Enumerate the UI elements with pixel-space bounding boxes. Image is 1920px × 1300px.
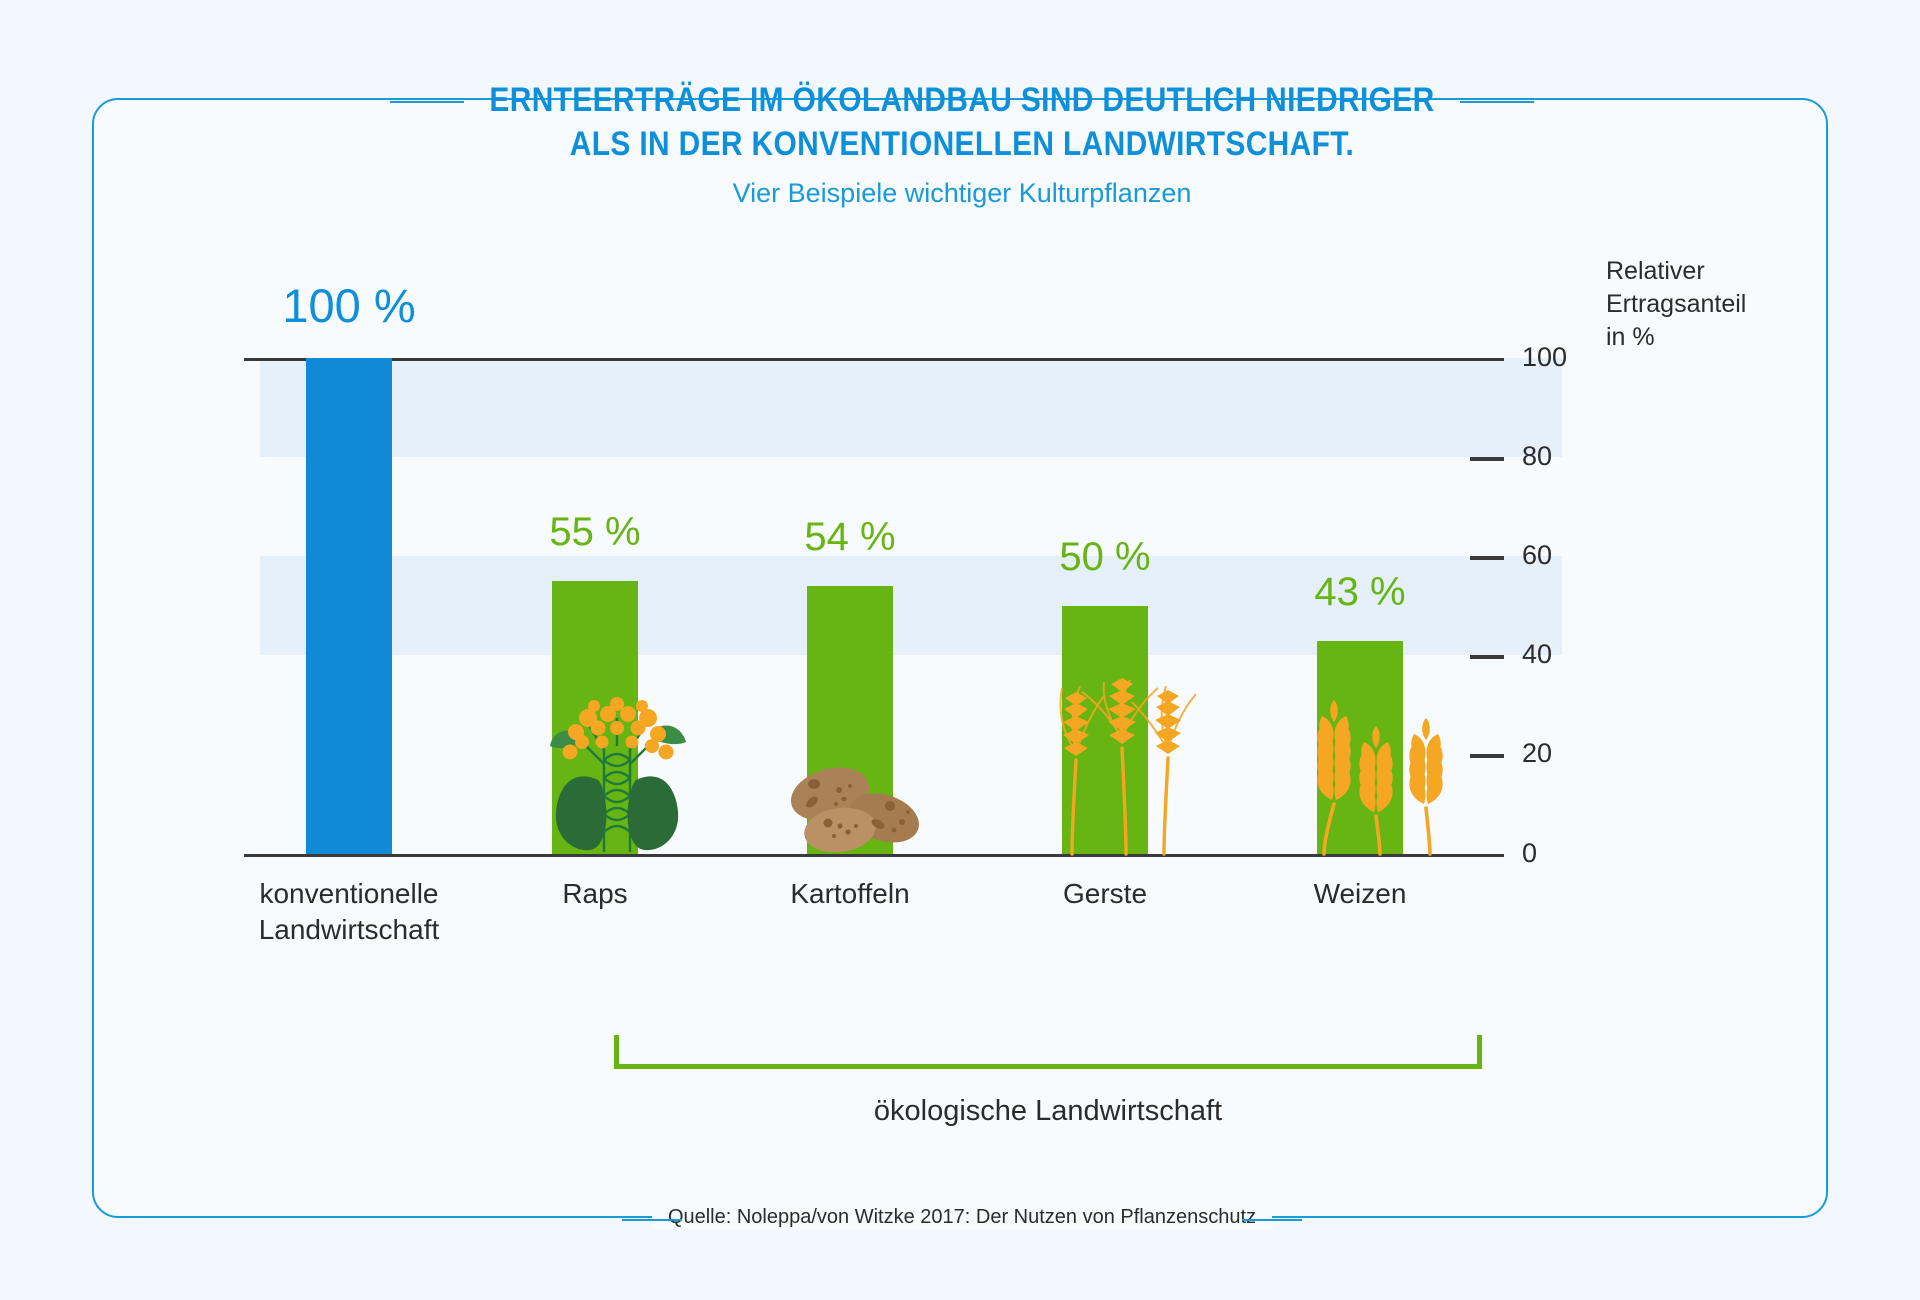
source-rule-left [622,1219,682,1221]
ticklabel-20: 20 [1522,738,1552,769]
tick-40 [1470,655,1504,659]
category-label-konventionelle: konventionelle Landwirtschaft [224,876,474,948]
bar-value-weizen: 43 % [1260,570,1460,615]
bar-value-kartoffeln: 54 % [750,515,950,560]
ticklabel-100: 100 [1522,342,1567,373]
organic-group-label: ökologische Landwirtschaft [614,1095,1482,1128]
organic-bracket [614,1035,1482,1069]
ticklabel-0: 0 [1522,838,1537,869]
chart-title-line2: ALS IN DER KONVENTIONELLEN LANDWIRTSCHAF… [198,122,1726,166]
source-rule-right [1242,1219,1302,1221]
category-label-konventionelle-line1: konventionelle [224,876,474,912]
title-block: ERNTEERTRÄGE IM ÖKOLANDBAU SIND DEUTLICH… [94,78,1830,166]
bar-value-konventionelle: 100 % [249,278,449,333]
chart-card: ERNTEERTRÄGE IM ÖKOLANDBAU SIND DEUTLICH… [92,98,1828,1218]
bar-value-gerste: 50 % [1005,535,1205,580]
source-block: Quelle: Noleppa/von Witzke 2017: Der Nut… [94,1206,1830,1229]
band-60-80 [260,358,1562,457]
bar-raps[interactable] [552,581,638,854]
source-text: Quelle: Noleppa/von Witzke 2017: Der Nut… [652,1206,1272,1229]
category-label-weizen: Weizen [1235,876,1485,912]
plot-area: 100 80 60 40 20 0 100 % 55 % 54 % 50 % 4… [152,260,1772,960]
category-label-raps: Raps [470,876,720,912]
infographic-root: ERNTEERTRÄGE IM ÖKOLANDBAU SIND DEUTLICH… [0,0,1920,1300]
bracket-bar [614,1064,1482,1069]
axis-line-100 [244,358,1466,361]
ticklabel-40: 40 [1522,639,1552,670]
bar-konventionelle-landwirtschaft[interactable] [306,358,392,854]
bar-kartoffeln[interactable] [807,586,893,854]
chart-title-line1: ERNTEERTRÄGE IM ÖKOLANDBAU SIND DEUTLICH… [198,78,1726,122]
chart-subtitle: Vier Beispiele wichtiger Kulturpflanzen [94,178,1830,209]
tick-0 [1444,854,1504,857]
category-label-gerste: Gerste [980,876,1230,912]
axis-line-baseline [244,854,1466,857]
ticklabel-60: 60 [1522,540,1552,571]
bar-weizen[interactable] [1317,641,1403,854]
tick-80 [1470,457,1504,461]
category-label-kartoffeln: Kartoffeln [725,876,975,912]
bar-value-raps: 55 % [495,510,695,555]
ticklabel-80: 80 [1522,441,1552,472]
bar-gerste[interactable] [1062,606,1148,854]
tick-20 [1470,754,1504,758]
category-label-konventionelle-line2: Landwirtschaft [224,912,474,948]
tick-60 [1470,556,1504,560]
tick-100 [1444,358,1504,361]
